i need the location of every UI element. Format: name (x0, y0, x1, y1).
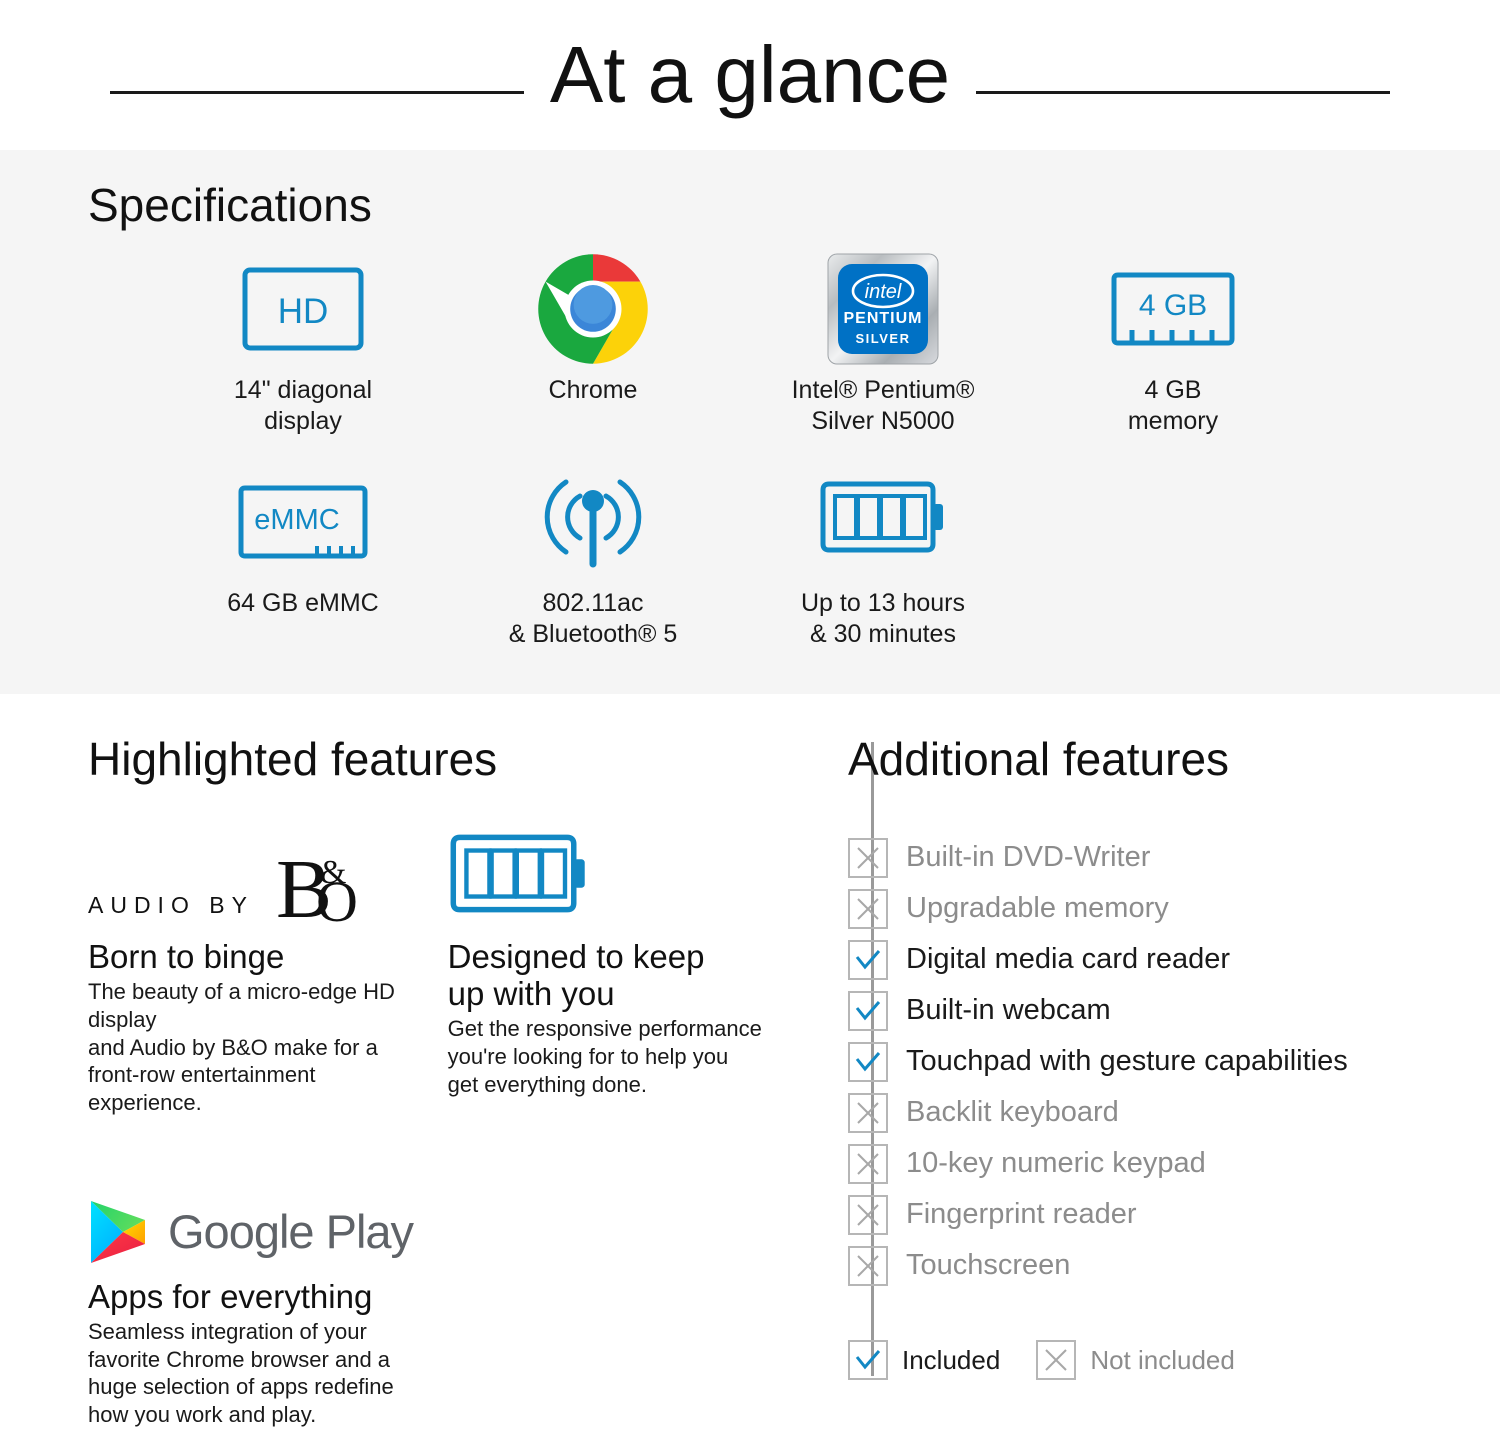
spec-label-storage: 64 GB eMMC (227, 588, 378, 619)
highlighted-card-audio: AUDIO BY B & O Born to binge The beauty … (88, 833, 422, 1117)
svg-text:PENTIUM: PENTIUM (844, 310, 923, 327)
google-play-label: Google Play (168, 1204, 413, 1259)
header-rule-left (110, 91, 524, 94)
highlighted-heading-apps: Apps for everything (88, 1279, 468, 1316)
highlighted-body-audio: The beauty of a micro-edge HD display an… (88, 978, 422, 1117)
feature-label: 10-key numeric keypad (906, 1149, 1206, 1178)
intel-pentium-silver-badge-icon: intel PENTIUM SILVER (827, 249, 939, 369)
svg-text:eMMC: eMMC (254, 504, 339, 536)
svg-text:4 GB: 4 GB (1139, 289, 1207, 322)
highlighted-card-performance: Designed to keep up with you Get the res… (448, 833, 790, 1117)
audio-by-label: AUDIO BY (88, 892, 254, 925)
legend-not-included-label: Not included (1090, 1345, 1235, 1376)
spec-label-os: Chrome (549, 375, 638, 406)
highlighted-features-title: Highlighted features (88, 732, 790, 787)
specifications-panel: Specifications HD 14" diagonal display (0, 150, 1500, 694)
highlighted-body-apps: Seamless integration of your favorite Ch… (88, 1318, 468, 1429)
list-item: Touchpad with gesture capabilities (848, 1037, 1500, 1086)
additional-features-title: Additional features (848, 732, 1500, 787)
list-item: Built-in webcam (848, 986, 1500, 1035)
check-icon (848, 1340, 888, 1380)
additional-features-column: Additional features Built-in DVD-Writer … (790, 732, 1500, 1429)
battery-icon (448, 833, 790, 925)
highlighted-row-1: AUDIO BY B & O Born to binge The beauty … (88, 833, 790, 1117)
x-icon (848, 1093, 888, 1133)
spec-item-processor: intel PENTIUM SILVER Intel® Pentium® Sil… (738, 249, 1028, 438)
spec-label-memory: 4 GB memory (1128, 375, 1218, 438)
list-item: Fingerprint reader (848, 1190, 1500, 1239)
feature-label: Fingerprint reader (906, 1200, 1137, 1229)
lower-section: Highlighted features AUDIO BY B & O Born… (0, 694, 1500, 1429)
specifications-row-2: eMMC 64 GB eMMC 802.11ac & B (0, 462, 1500, 651)
spec-label-display: 14" diagonal display (234, 375, 372, 438)
spec-item-battery: Up to 13 hours & 30 minutes (738, 462, 1028, 651)
check-icon (848, 991, 888, 1031)
spec-label-wireless: 802.11ac & Bluetooth® 5 (509, 588, 678, 651)
highlighted-heading-audio: Born to binge (88, 939, 422, 976)
spec-label-processor: Intel® Pentium® Silver N5000 (792, 375, 975, 438)
check-icon (848, 1042, 888, 1082)
specifications-title: Specifications (88, 178, 1500, 233)
wireless-signal-icon (530, 462, 656, 582)
feature-label: Touchpad with gesture capabilities (906, 1047, 1348, 1076)
highlighted-row-2: Google Play Apps for everything Seamless… (88, 1173, 790, 1429)
feature-label: Upgradable memory (906, 894, 1169, 923)
bang-olufsen-monogram-icon: B & O (276, 841, 362, 925)
feature-label: Touchscreen (906, 1251, 1070, 1280)
legend-included-label: Included (902, 1345, 1000, 1376)
highlighted-features-column: Highlighted features AUDIO BY B & O Born… (0, 732, 790, 1429)
list-item: 10-key numeric keypad (848, 1139, 1500, 1188)
hd-display-icon: HD (242, 249, 364, 369)
list-item: Built-in DVD-Writer (848, 833, 1500, 882)
google-play-logo: Google Play (88, 1173, 468, 1265)
google-play-triangle-icon (88, 1199, 150, 1265)
additional-features-list: Built-in DVD-Writer Upgradable memory Di… (848, 833, 1500, 1290)
header-rule-right (976, 91, 1390, 94)
spec-item-os: Chrome (448, 249, 738, 406)
list-item: Digital media card reader (848, 935, 1500, 984)
page-title: At a glance (550, 35, 950, 115)
spec-label-battery: Up to 13 hours & 30 minutes (801, 588, 965, 651)
highlighted-card-apps: Google Play Apps for everything Seamless… (88, 1173, 468, 1429)
chrome-logo-icon (536, 249, 650, 369)
svg-text:SILVER: SILVER (856, 331, 911, 346)
check-icon (848, 940, 888, 980)
legend-not-included: Not included (1036, 1340, 1235, 1380)
svg-text:HD: HD (278, 292, 329, 331)
svg-text:intel: intel (865, 281, 902, 303)
specifications-row-1: HD 14" diagonal display Chrome (0, 249, 1500, 438)
spec-item-storage: eMMC 64 GB eMMC (158, 462, 448, 619)
list-item: Backlit keyboard (848, 1088, 1500, 1137)
x-icon (1036, 1340, 1076, 1380)
spec-item-memory: 4 GB 4 GB memory (1028, 249, 1318, 438)
spec-item-wireless: 802.11ac & Bluetooth® 5 (448, 462, 738, 651)
highlighted-body-performance: Get the responsive performance you're lo… (448, 1015, 790, 1098)
x-icon (848, 889, 888, 929)
feature-label: Built-in webcam (906, 996, 1111, 1025)
battery-icon (819, 462, 947, 582)
features-legend: Included Not included (848, 1340, 1500, 1380)
emmc-storage-icon: eMMC (237, 462, 369, 582)
audio-by-bang-olufsen-logo: AUDIO BY B & O (88, 833, 422, 925)
x-icon (848, 1195, 888, 1235)
svg-text:O: O (316, 869, 358, 925)
memory-module-icon: 4 GB (1110, 249, 1236, 369)
legend-included: Included (848, 1340, 1000, 1380)
x-icon (848, 838, 888, 878)
page-header: At a glance (0, 0, 1500, 150)
x-icon (848, 1144, 888, 1184)
list-item: Upgradable memory (848, 884, 1500, 933)
list-item: Touchscreen (848, 1241, 1500, 1290)
feature-label: Built-in DVD-Writer (906, 843, 1150, 872)
highlighted-heading-performance: Designed to keep up with you (448, 939, 790, 1013)
feature-label: Backlit keyboard (906, 1098, 1119, 1127)
spec-item-display: HD 14" diagonal display (158, 249, 448, 438)
feature-label: Digital media card reader (906, 945, 1230, 974)
x-icon (848, 1246, 888, 1286)
